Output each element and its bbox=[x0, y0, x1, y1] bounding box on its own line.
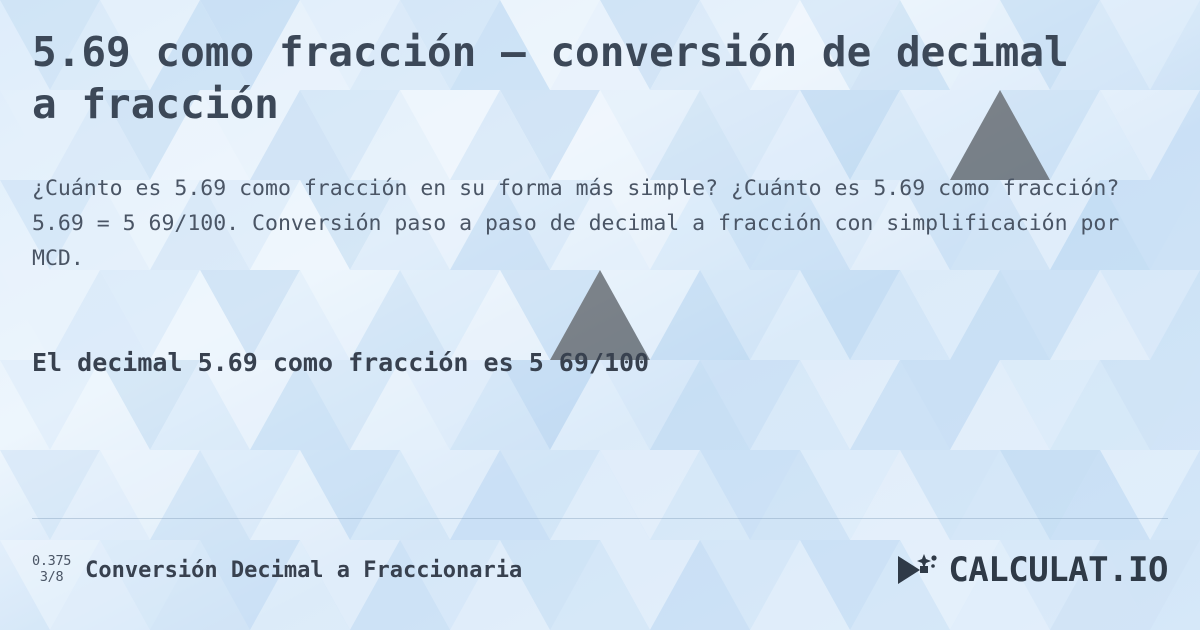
fraction-badge-denominator: 3/8 bbox=[40, 570, 63, 586]
footer-divider bbox=[32, 518, 1168, 519]
brand-logo[interactable]: CALCULAT.IO bbox=[894, 547, 1168, 593]
footer-left-group: 0.375 3/8 Conversión Decimal a Fracciona… bbox=[32, 545, 522, 595]
social-card: 5.69 como fracción – conversión de decim… bbox=[0, 0, 1200, 630]
brand-name: CALCULAT.IO bbox=[948, 550, 1168, 590]
footer-label: Conversión Decimal a Fraccionaria bbox=[85, 558, 522, 583]
calculator-sparkle-icon bbox=[894, 552, 940, 588]
card-content: 5.69 como fracción – conversión de decim… bbox=[0, 0, 1200, 630]
page-description: ¿Cuánto es 5.69 como fracción en su form… bbox=[32, 172, 1142, 276]
fraction-badge-icon: 0.375 3/8 bbox=[32, 554, 71, 585]
footer: 0.375 3/8 Conversión Decimal a Fracciona… bbox=[32, 545, 1168, 599]
fraction-badge-numerator: 0.375 bbox=[32, 554, 71, 570]
answer-statement: El decimal 5.69 como fracción es 5 69/10… bbox=[32, 348, 1152, 377]
page-title: 5.69 como fracción – conversión de decim… bbox=[32, 26, 1092, 131]
